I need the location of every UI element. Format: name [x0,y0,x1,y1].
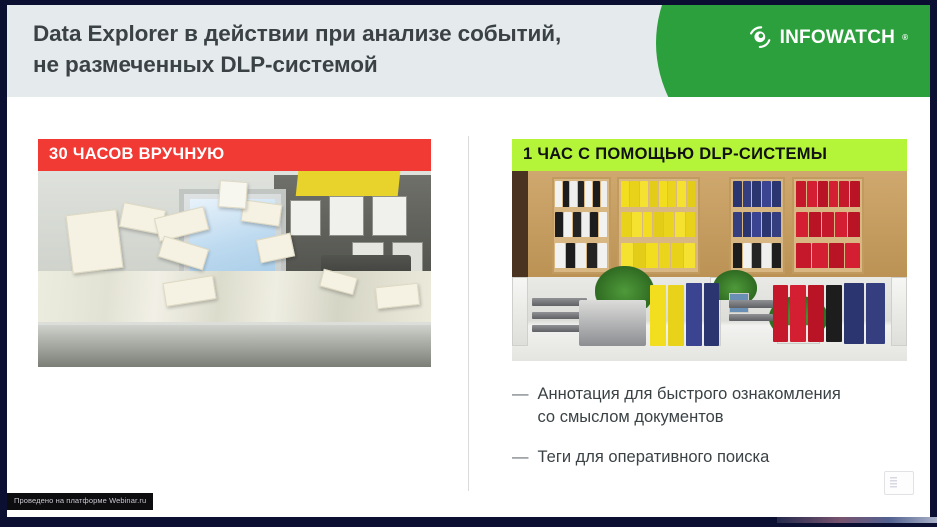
right-banner-label: 1 ЧАС С ПОМОЩЬЮ DLP-СИСТЕМЫ [512,139,907,171]
messy-office-photo [38,171,431,367]
left-panel: 30 ЧАСОВ ВРУЧНУЮ [38,139,431,367]
right-panel: 1 ЧАС С ПОМОЩЬЮ DLP-СИСТЕМЫ [512,139,907,486]
bullet-dash-icon: — [512,383,529,406]
column-divider [468,136,469,491]
player-bottom-strip [777,517,937,523]
player-bottom-bar [0,519,937,527]
list-item-text: Аннотация для быстрого ознакомления со с… [538,383,908,429]
registered-mark: ® [902,33,908,42]
slide-body: 30 ЧАСОВ ВРУЧНУЮ [7,97,930,517]
page-title: Data Explorer в действии при анализе соб… [33,18,633,80]
list-item-line-1: Аннотация для быстрого ознакомления [538,385,841,403]
bullet-dash-icon: — [512,446,529,469]
slide-canvas: Data Explorer в действии при анализе соб… [7,5,930,517]
list-item-line-1: Теги для оперативного поиска [538,448,770,466]
infowatch-eye-icon [747,24,774,51]
brand-name: INFOWATCH [780,27,895,49]
presentation-slide-icon[interactable] [884,471,914,495]
page-title-line-1: Data Explorer в действии при анализе соб… [33,18,633,49]
webinar-watermark: Проведено на платформе Webinar.ru [7,493,153,510]
benefits-list: — Аннотация для быстрого ознакомления со… [512,383,907,469]
left-banner-label: 30 ЧАСОВ ВРУЧНУЮ [38,139,431,171]
infowatch-logo: INFOWATCH ® [747,24,908,51]
list-item: — Теги для оперативного поиска [512,446,907,469]
organized-office-photo [512,171,907,361]
list-item-text: Теги для оперативного поиска [538,446,908,469]
webinar-slide-viewer: Data Explorer в действии при анализе соб… [0,0,937,527]
page-title-line-2: не размеченных DLP-системой [33,49,633,80]
header-green-shape [656,5,930,97]
slide-header: Data Explorer в действии при анализе соб… [7,5,930,97]
list-item-line-2: со смыслом документов [538,408,724,426]
list-item: — Аннотация для быстрого ознакомления со… [512,383,907,429]
